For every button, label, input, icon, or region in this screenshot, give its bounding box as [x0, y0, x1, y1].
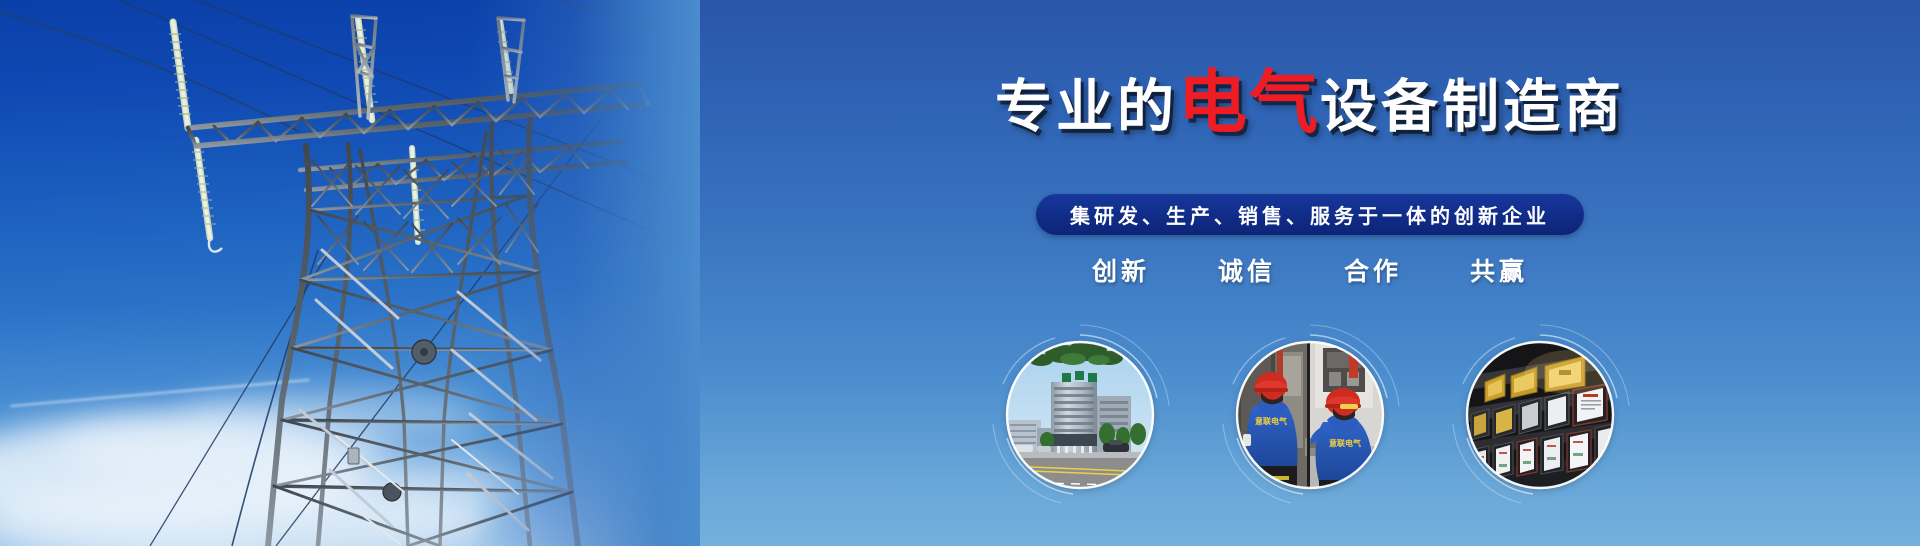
workers-installing-photo: 意联电气 — [1237, 342, 1383, 488]
circle-certificates-wall — [1445, 320, 1635, 510]
subtitle-pill: 集研发、生产、销售、服务于一体的创新企业 — [1036, 194, 1584, 235]
keyword-integrity: 诚信 — [1214, 252, 1280, 288]
headline-accent: 电气 — [1178, 64, 1320, 141]
banner-content: 专业的电气设备制造商 集研发、生产、销售、服务于一体的创新企业 创新 诚信 合作… — [700, 0, 1920, 546]
circle-office-building — [985, 320, 1175, 510]
office-building-photo — [1007, 342, 1153, 488]
feature-circle-list: 意联电气 — [700, 320, 1920, 510]
photo-gradient-fade — [470, 0, 700, 546]
page-title: 专业的电气设备制造商 — [700, 68, 1920, 137]
svg-text:意联电气: 意联电气 — [1329, 438, 1361, 448]
hero-banner: 专业的电气设备制造商 集研发、生产、销售、服务于一体的创新企业 创新 诚信 合作… — [0, 0, 1920, 546]
svg-text:意联电气: 意联电气 — [1255, 416, 1287, 426]
transmission-tower-photo — [0, 0, 700, 546]
keyword-innovation: 创新 — [1088, 252, 1154, 288]
headline-suffix: 设备制造商 — [1320, 75, 1625, 139]
subtitle-pill-wrapper: 集研发、生产、销售、服务于一体的创新企业 — [700, 194, 1920, 235]
certificates-wall-photo — [1467, 342, 1613, 488]
circle-workers-installing: 意联电气 — [1215, 320, 1405, 510]
keyword-list: 创新 诚信 合作 共赢 — [700, 252, 1920, 288]
headline-prefix: 专业的 — [995, 75, 1178, 139]
keyword-cooperation: 合作 — [1340, 252, 1406, 288]
keyword-winwin: 共赢 — [1466, 252, 1532, 288]
